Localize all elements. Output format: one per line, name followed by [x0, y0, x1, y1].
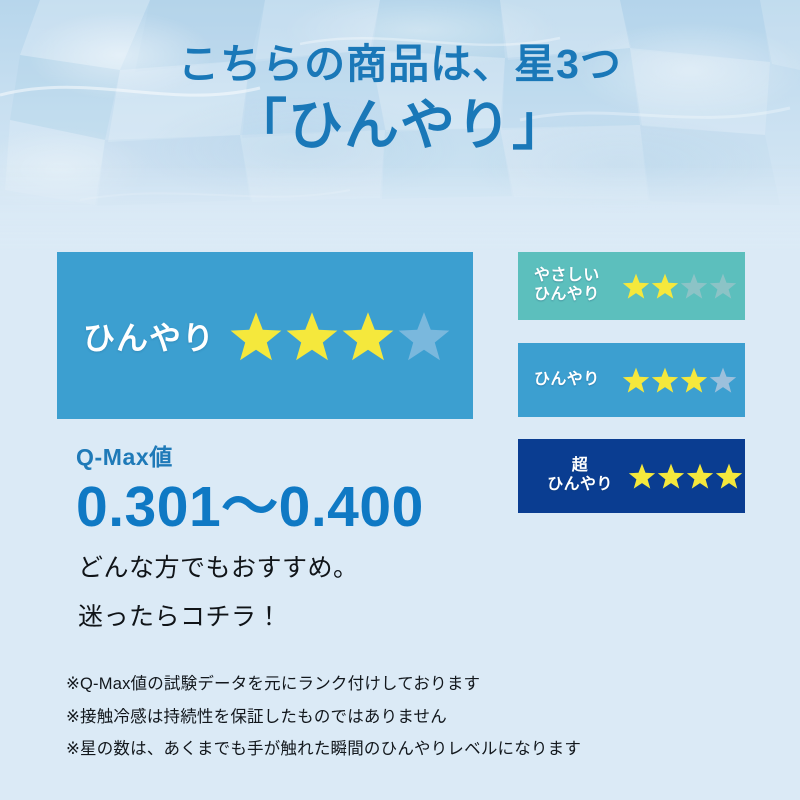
legend-panel-3: 超ひんやり — [518, 439, 745, 513]
legend-label-line: 超 — [534, 457, 626, 476]
main-rating-label: ひんやり — [83, 313, 215, 359]
star-filled-icon — [628, 462, 656, 490]
star-empty-icon — [709, 272, 737, 300]
footnote-2: ※接触冷感は持続性を保証したものではありません — [66, 709, 766, 726]
main-rating-panel: ひんやり — [57, 252, 473, 419]
star-filled-icon — [622, 272, 650, 300]
star-filled-icon — [285, 309, 339, 363]
legend-panel-1-label: やさしいひんやり — [534, 267, 620, 304]
infographic-page: こちらの商品は、星3つ 「ひんやり」 ひんやり Q-Max値 0.301〜0.4… — [0, 0, 800, 800]
qmax-value: 0.301〜0.400 — [76, 479, 556, 536]
star-filled-icon — [657, 462, 685, 490]
page-headline: こちらの商品は、星3つ 「ひんやり」 — [0, 44, 800, 153]
star-filled-icon — [651, 272, 679, 300]
recommendation-text: どんな方でもおすすめ。迷ったらコチラ！ — [78, 556, 578, 630]
legend-panel-1-stars — [622, 272, 737, 300]
star-filled-icon — [715, 462, 743, 490]
legend-label-line: ひんやり — [534, 371, 620, 390]
qmax-label: Q-Max値 — [76, 446, 556, 469]
star-filled-icon — [686, 462, 714, 490]
star-empty-icon — [709, 366, 737, 394]
star-filled-icon — [229, 309, 283, 363]
star-filled-icon — [341, 309, 395, 363]
headline-line-1: こちらの商品は、星3つ — [0, 44, 800, 86]
legend-label-line: ひんやり — [534, 286, 620, 305]
main-rating-stars — [229, 309, 451, 363]
legend-panel-3-stars — [628, 462, 743, 490]
legend-label-line: やさしい — [534, 267, 620, 286]
header-fade-overlay — [0, 164, 800, 250]
footnotes: ※Q-Max値の試験データを元にランク付けしております※接触冷感は持続性を保証し… — [66, 676, 766, 758]
star-filled-icon — [680, 366, 708, 394]
legend-panel-2: ひんやり — [518, 343, 745, 417]
footnote-1: ※Q-Max値の試験データを元にランク付けしております — [66, 676, 766, 693]
star-filled-icon — [651, 366, 679, 394]
legend-panel-1: やさしいひんやり — [518, 252, 745, 320]
recommendation-line-2: 迷ったらコチラ！ — [78, 605, 578, 630]
star-empty-icon — [397, 309, 451, 363]
footnote-3: ※星の数は、あくまでも手が触れた瞬間のひんやりレベルになります — [66, 741, 766, 758]
rating-legend: やさしいひんやりひんやり超ひんやり — [518, 252, 745, 513]
legend-panel-3-label: 超ひんやり — [534, 457, 626, 494]
legend-label-line: ひんやり — [534, 476, 626, 495]
legend-panel-2-label: ひんやり — [534, 371, 620, 390]
qmax-block: Q-Max値 0.301〜0.400 — [76, 446, 556, 536]
legend-panel-2-stars — [622, 366, 737, 394]
headline-line-2: 「ひんやり」 — [0, 97, 800, 153]
star-filled-icon — [622, 366, 650, 394]
star-empty-icon — [680, 272, 708, 300]
recommendation-line-1: どんな方でもおすすめ。 — [78, 556, 578, 581]
